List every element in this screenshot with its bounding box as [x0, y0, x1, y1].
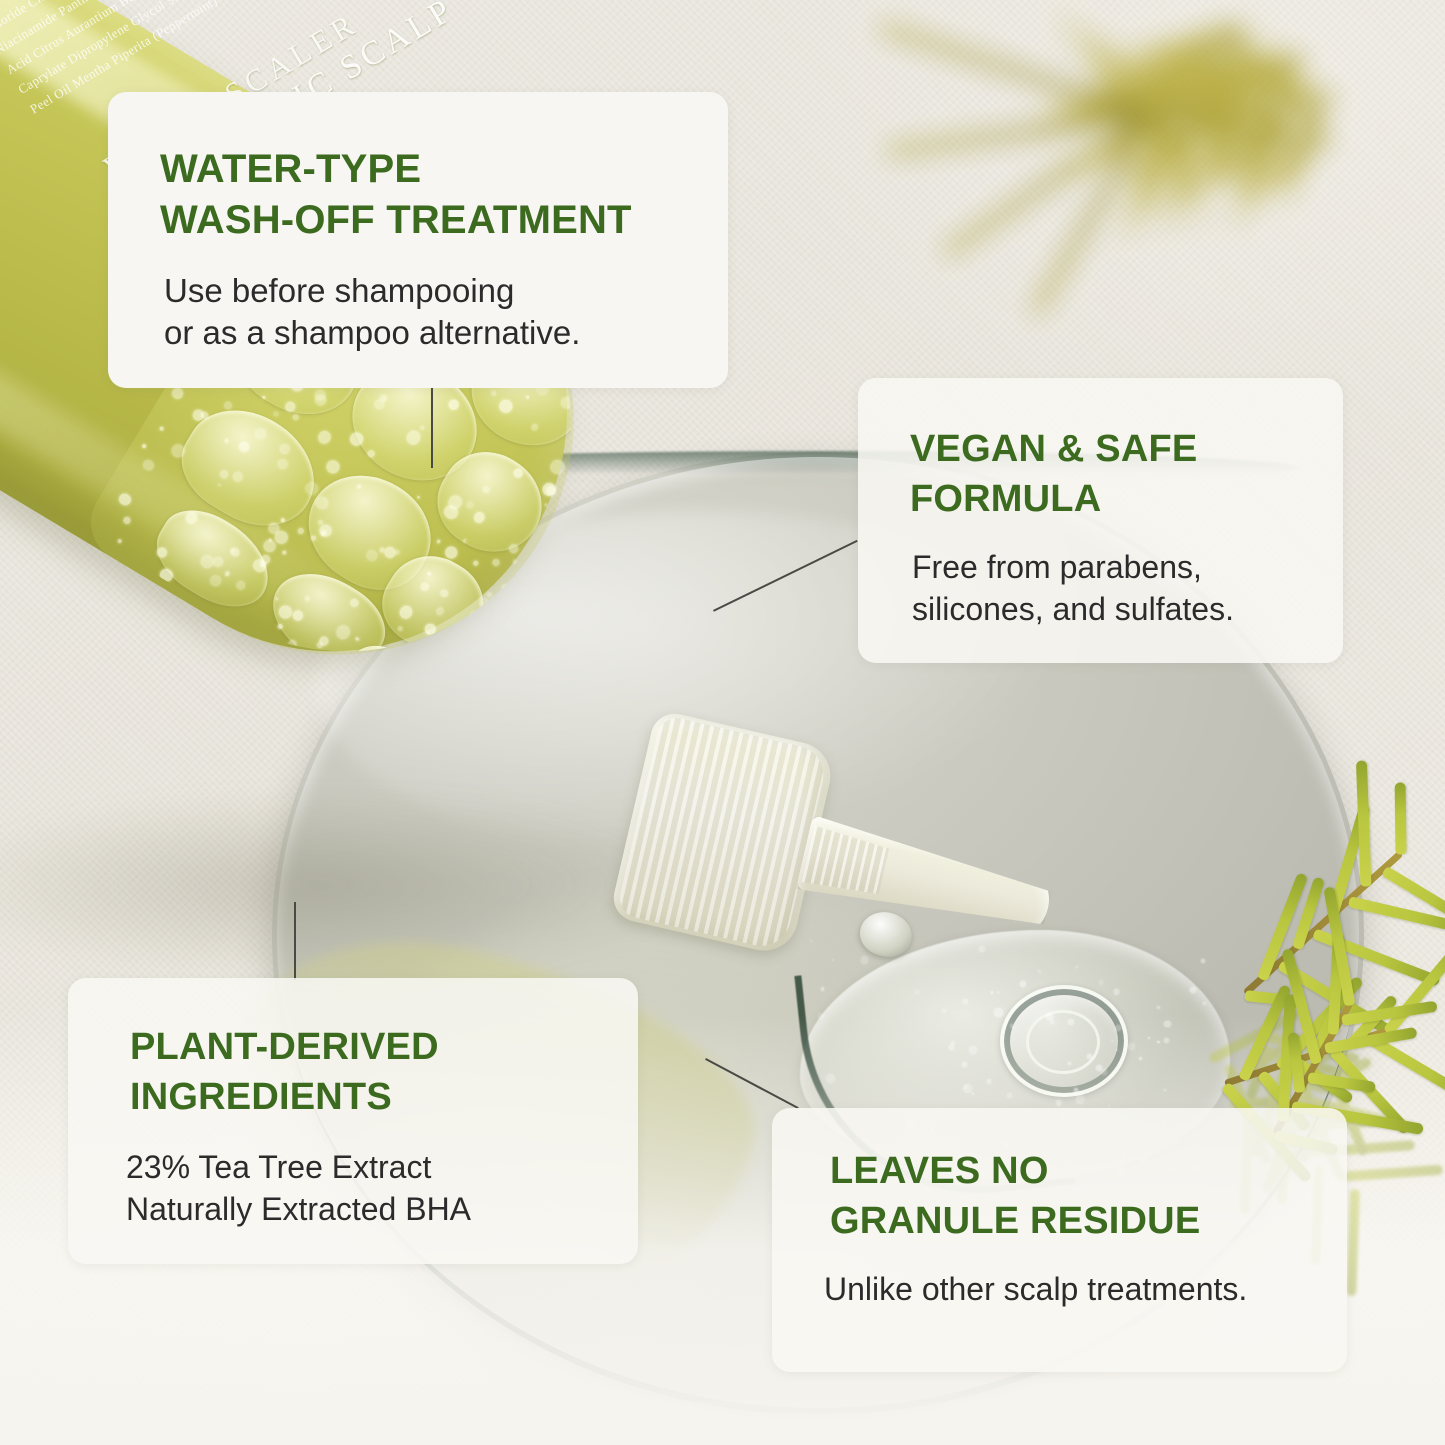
callout-body-no-residue: Unlike other scalp treatments.	[772, 1246, 1347, 1310]
tea-tree-sprig-blurred	[865, 0, 1445, 360]
callout-card-no-residue[interactable]: LEAVES NOGRANULE RESIDUE Unlike other sc…	[772, 1108, 1347, 1372]
product-infographic: Laury Glucoside Disodium Cocoamphodiacet…	[0, 0, 1445, 1445]
callout-card-water-type[interactable]: WATER-TYPEWASH-OFF TREATMENT Use before …	[108, 92, 728, 388]
callout-title-vegan-safe: VEGAN & SAFEFORMULA	[858, 378, 1343, 524]
leader-line-water-type	[431, 388, 433, 468]
leader-line-plant-derived	[294, 902, 296, 980]
callout-title-no-residue: LEAVES NOGRANULE RESIDUE	[772, 1108, 1347, 1246]
callout-body-water-type: Use before shampooingor as a shampoo alt…	[108, 246, 728, 354]
liquid-droplet	[856, 907, 917, 962]
callout-title-plant-derived: PLANT-DERIVEDINGREDIENTS	[68, 978, 638, 1122]
callout-card-vegan-safe[interactable]: VEGAN & SAFEFORMULA Free from parabens,s…	[858, 378, 1343, 663]
callout-body-vegan-safe: Free from parabens,silicones, and sulfat…	[858, 524, 1343, 630]
callout-title-water-type: WATER-TYPEWASH-OFF TREATMENT	[108, 92, 728, 246]
callout-body-plant-derived: 23% Tea Tree ExtractNaturally Extracted …	[68, 1122, 638, 1230]
callout-card-plant-derived[interactable]: PLANT-DERIVEDINGREDIENTS 23% Tea Tree Ex…	[68, 978, 638, 1264]
